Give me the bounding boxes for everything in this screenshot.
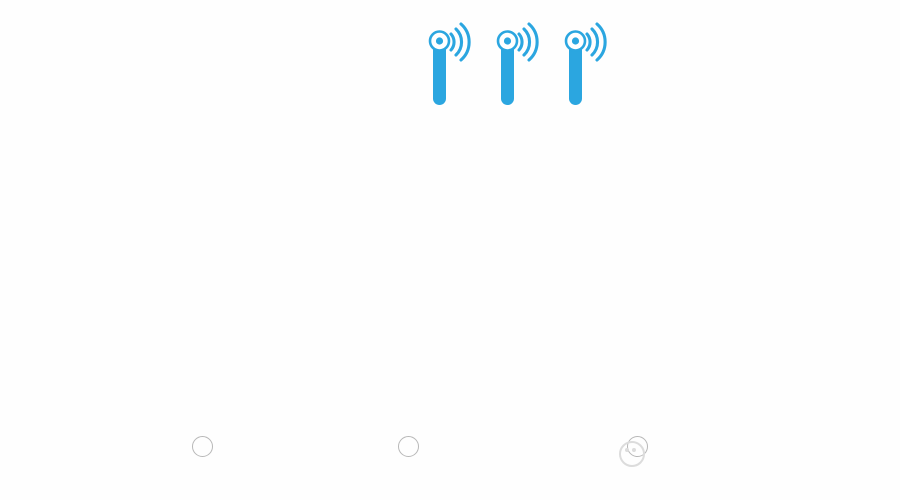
chart-legend [0,436,900,480]
legend-swatch-no-change [398,436,419,457]
wifi-tower-icon [428,22,472,107]
legend-item-no-change[interactable] [398,436,432,457]
legend-swatch-increased [192,436,213,457]
slide-canvas [0,0,900,500]
watermark-curiositychina [619,441,651,470]
pie-chart-group [0,100,900,430]
wifi-tower-icon [564,22,608,107]
legend-item-increased[interactable] [192,436,226,457]
wifi-tower-icon [496,22,540,107]
watermark-itjxue [750,455,900,457]
curiosity-logo-icon [619,441,645,467]
wifi-icon-group [428,22,608,107]
